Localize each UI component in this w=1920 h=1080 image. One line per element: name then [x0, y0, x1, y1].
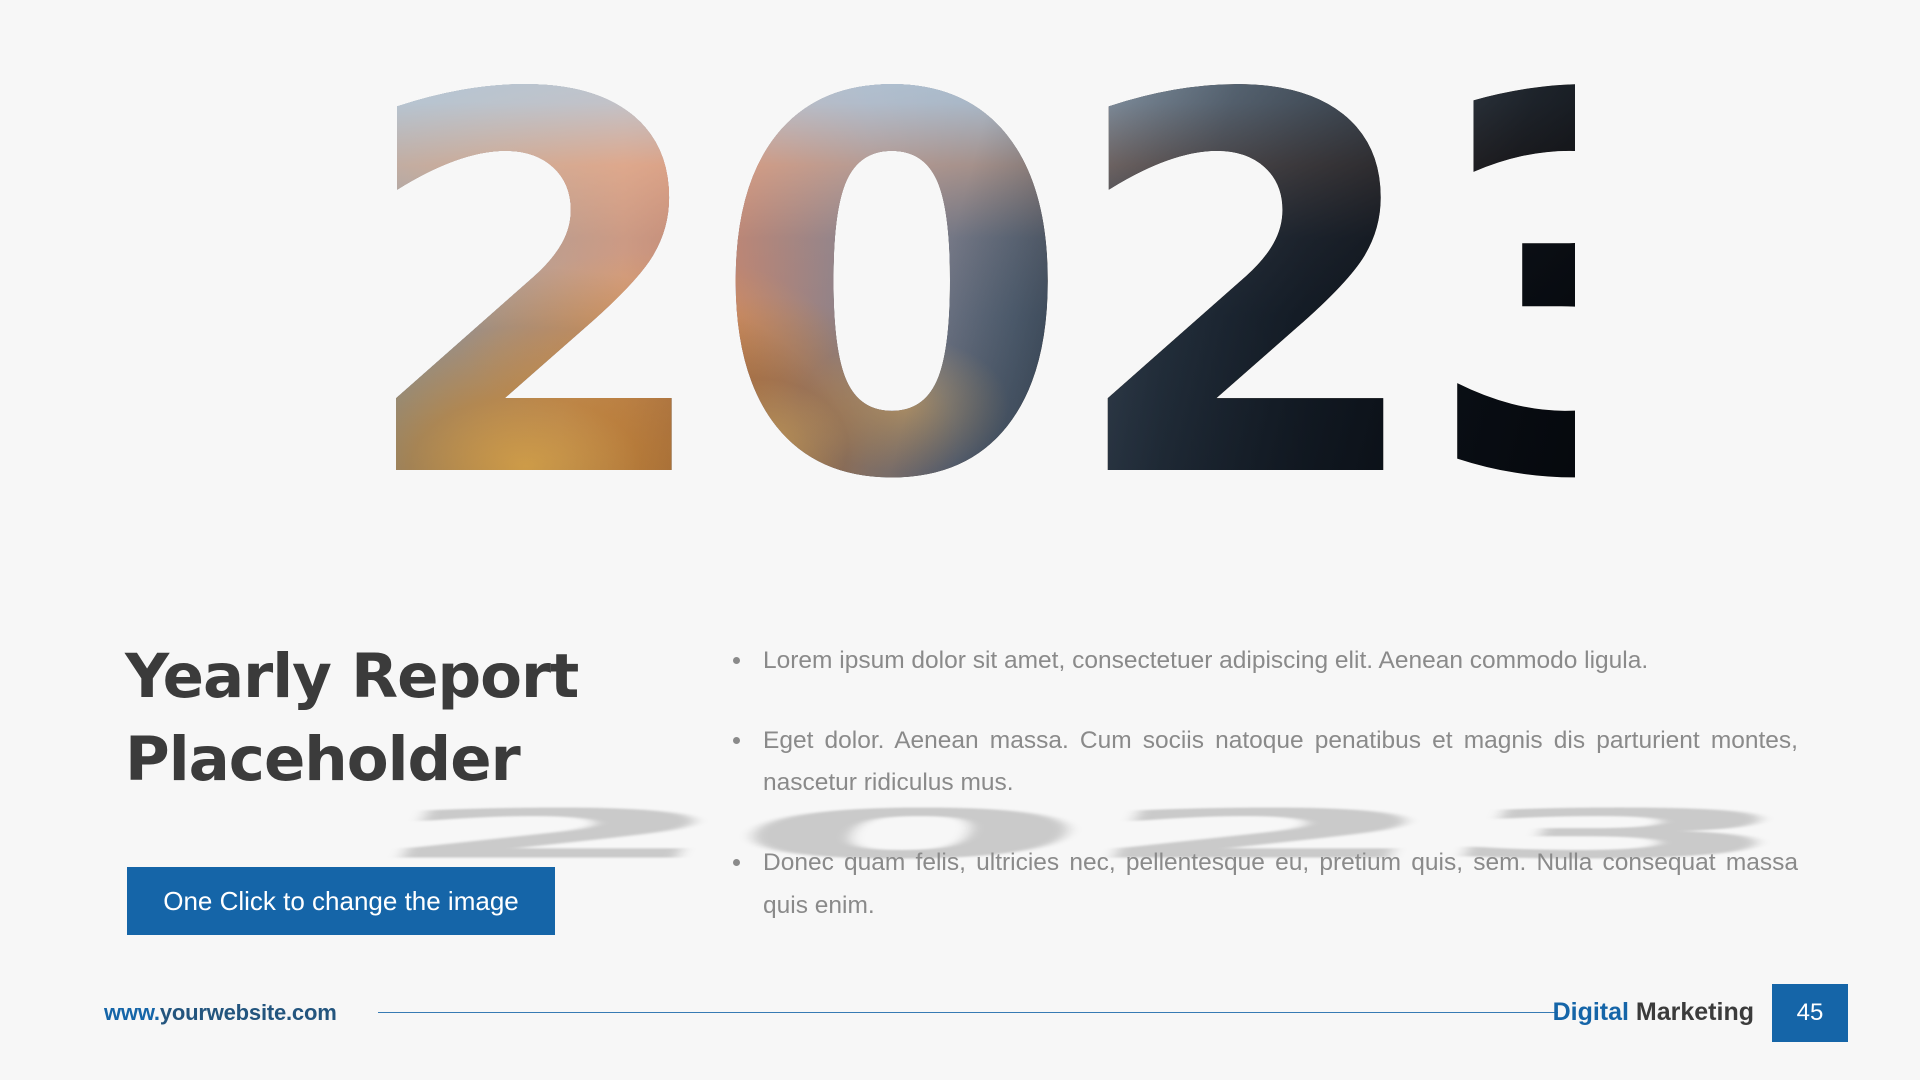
bullet-list: Lorem ipsum dolor sit amet, consectetuer…: [728, 640, 1798, 927]
year-image-placeholder[interactable]: 2023 2023: [355, 30, 1575, 550]
footer-brand-secondary: Marketing: [1629, 998, 1754, 1026]
footer-brand: Digital Marketing: [1553, 998, 1754, 1027]
page-number-badge: 45: [1772, 984, 1848, 1042]
list-item-text: Lorem ipsum dolor sit amet, consectetuer…: [763, 647, 1648, 674]
list-item: Eget dolor. Aenean massa. Cum sociis nat…: [728, 720, 1798, 804]
footer-website-link[interactable]: www.yourwebsite.com: [104, 1000, 337, 1026]
bullet-dot-icon: [733, 859, 740, 866]
footer-divider: [378, 1012, 1558, 1013]
hero-banner: 2023 2023: [0, 0, 1920, 590]
page-title: Yearly Report Placeholder: [125, 636, 685, 802]
list-item: Donec quam felis, ultricies nec, pellent…: [728, 842, 1798, 926]
list-item-text: Eget dolor. Aenean massa. Cum sociis nat…: [763, 727, 1798, 796]
bullet-dot-icon: [733, 737, 740, 744]
slide-footer: www.yourwebsite.com Digital Marketing 45: [0, 970, 1920, 1080]
bullet-dot-icon: [733, 657, 740, 664]
headline-line-2: Placeholder: [125, 719, 685, 802]
knockout-cover: 2023: [355, 30, 1575, 550]
list-item: Lorem ipsum dolor sit amet, consectetuer…: [728, 640, 1798, 682]
footer-brand-primary: Digital: [1553, 998, 1629, 1026]
footer-url-prefix: www.: [104, 1000, 160, 1025]
year-photo-knockout: 2023: [355, 30, 1575, 550]
change-image-button[interactable]: One Click to change the image: [127, 867, 555, 935]
list-item-text: Donec quam felis, ultricies nec, pellent…: [763, 849, 1798, 918]
headline-line-1: Yearly Report: [125, 641, 578, 712]
footer-url-domain: yourwebsite.com: [160, 1000, 337, 1025]
year-text: 2023: [355, 30, 1575, 550]
